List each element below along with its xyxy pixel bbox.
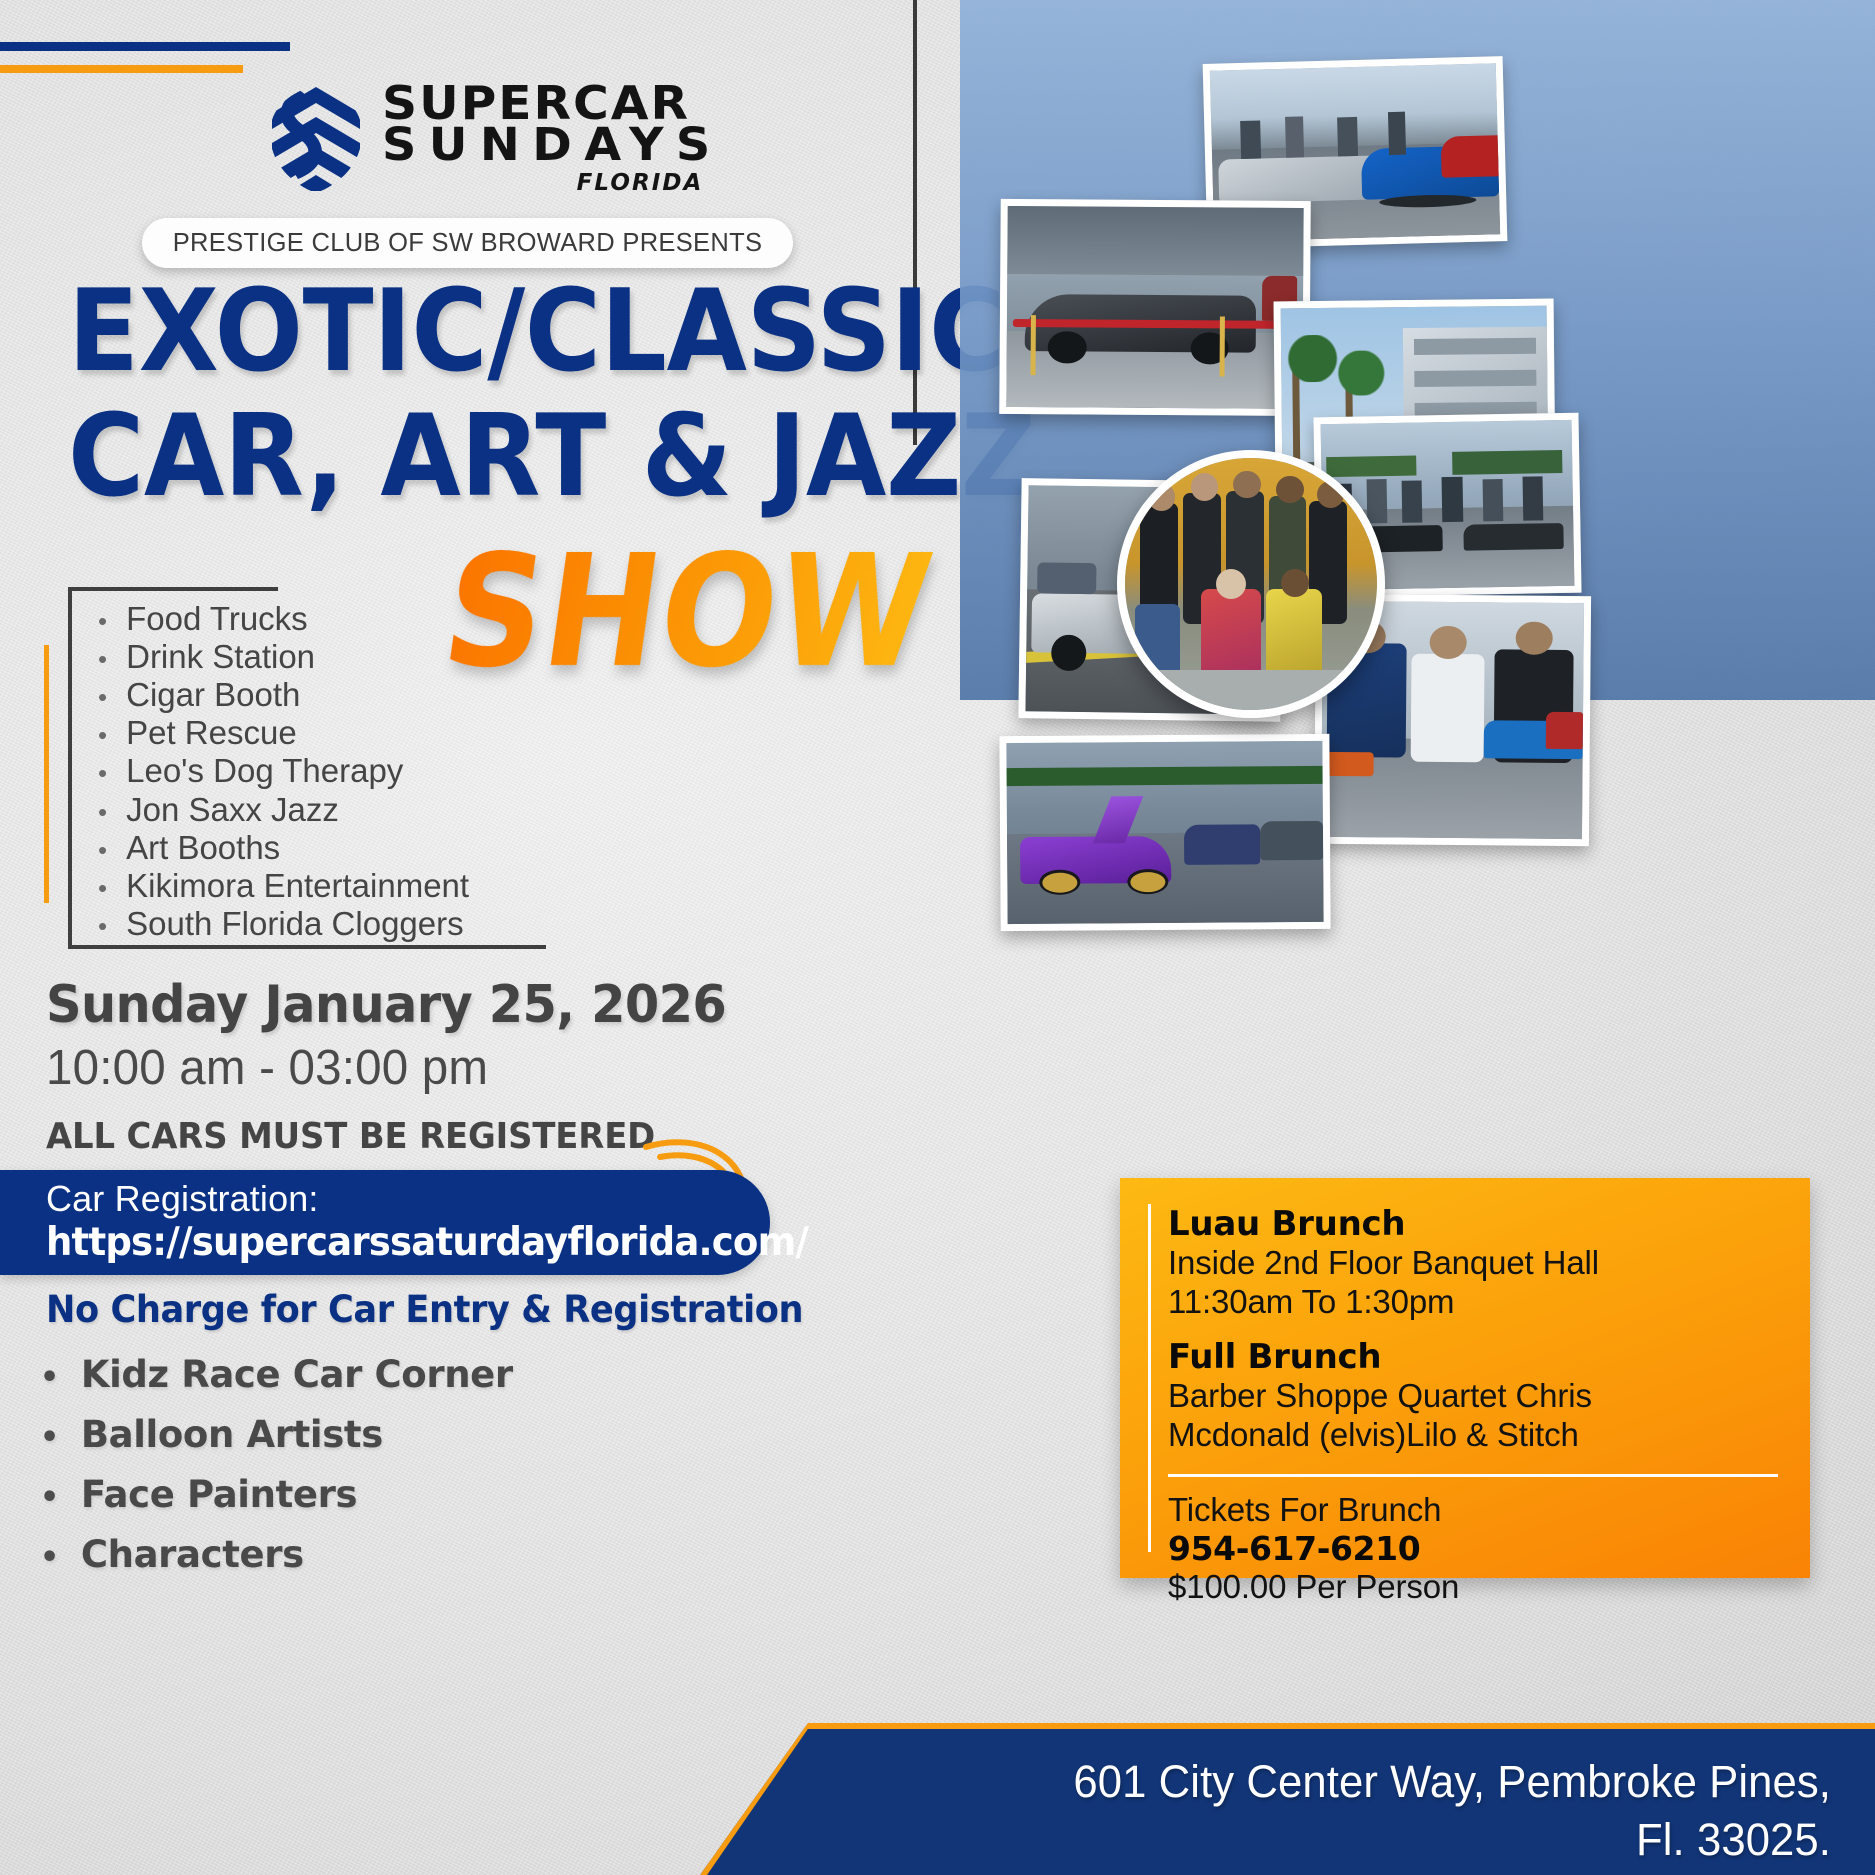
orange-accent-bar bbox=[44, 645, 49, 903]
list-item: •Balloon Artists bbox=[40, 1405, 740, 1465]
list-item: •Face Painters bbox=[40, 1465, 740, 1525]
tickets-price: $100.00 Per Person bbox=[1168, 1568, 1780, 1607]
address-footer: 601 City Center Way, Pembroke Pines, Fl.… bbox=[700, 1723, 1875, 1875]
list-item: •Food Trucks bbox=[98, 600, 658, 638]
group-portrait-circle-photo bbox=[1117, 450, 1385, 718]
event-time: 10:00 am - 03:00 pm bbox=[46, 1040, 488, 1096]
feature-label: Jon Saxx Jazz bbox=[126, 791, 339, 829]
bullet-dot-icon: • bbox=[40, 1543, 59, 1573]
purple-aventador-photo bbox=[999, 734, 1330, 931]
tickets-label: Tickets For Brunch bbox=[1168, 1491, 1780, 1530]
feature-label: Food Trucks bbox=[126, 600, 308, 638]
kids-activities-list: •Kidz Race Car Corner •Balloon Artists •… bbox=[40, 1345, 740, 1585]
event-date: Sunday January 25, 2026 bbox=[46, 975, 726, 1035]
bullet-dot-icon: • bbox=[98, 837, 107, 863]
list-item: •Kidz Race Car Corner bbox=[40, 1345, 740, 1405]
no-charge-notice: No Charge for Car Entry & Registration bbox=[46, 1288, 803, 1331]
feature-label: Drink Station bbox=[126, 638, 315, 676]
left-column: SUPERCAR SUNDAYS FLORIDA PRESTIGE CLUB O… bbox=[0, 0, 915, 1875]
kids-activity-label: Balloon Artists bbox=[81, 1405, 383, 1465]
full-brunch-title: Full Brunch bbox=[1168, 1337, 1780, 1377]
batmobile-photo bbox=[999, 199, 1310, 416]
brunch-info-box: Luau Brunch Inside 2nd Floor Banquet Hal… bbox=[1120, 1178, 1810, 1578]
bullet-dot-icon: • bbox=[98, 646, 107, 672]
list-item: •Jon Saxx Jazz bbox=[98, 791, 658, 829]
luau-brunch-line-1: Inside 2nd Floor Banquet Hall bbox=[1168, 1244, 1780, 1283]
list-item: •Kikimora Entertainment bbox=[98, 867, 658, 905]
list-item: •Art Booths bbox=[98, 829, 658, 867]
feature-label: South Florida Cloggers bbox=[126, 905, 464, 943]
bullet-dot-icon: • bbox=[98, 913, 107, 939]
kids-activity-label: Characters bbox=[81, 1525, 304, 1585]
bullet-dot-icon: • bbox=[98, 760, 107, 786]
kids-activity-label: Face Painters bbox=[81, 1465, 357, 1525]
brunch-divider bbox=[1168, 1474, 1778, 1477]
bracket-left bbox=[68, 587, 72, 949]
address-line-2: Fl. 33025. bbox=[958, 1811, 1831, 1869]
list-item: •South Florida Cloggers bbox=[98, 905, 658, 943]
bullet-dot-icon: • bbox=[40, 1363, 59, 1393]
bullet-dot-icon: • bbox=[98, 799, 107, 825]
shield-chevron-logo-icon bbox=[264, 83, 368, 195]
presenter-pill: PRESTIGE CLUB OF SW BROWARD PRESENTS bbox=[142, 218, 793, 268]
presenter-text: PRESTIGE CLUB OF SW BROWARD PRESENTS bbox=[173, 229, 763, 258]
bullet-dot-icon: • bbox=[40, 1423, 59, 1453]
list-item: •Pet Rescue bbox=[98, 714, 658, 752]
bracket-top bbox=[68, 587, 278, 591]
list-item: •Leo's Dog Therapy bbox=[98, 752, 658, 790]
list-item: •Cigar Booth bbox=[98, 676, 658, 714]
full-brunch-line-1: Barber Shoppe Quartet Chris bbox=[1168, 1377, 1780, 1416]
logo-line-2: SUNDAYS bbox=[382, 124, 723, 165]
registration-url-link[interactable]: https://supercarssaturdayflorida.com/ bbox=[46, 1220, 808, 1265]
headline-line-2: CAR, ART & JAZZ bbox=[68, 408, 832, 505]
flyer-canvas: SUPERCAR SUNDAYS FLORIDA PRESTIGE CLUB O… bbox=[0, 0, 1875, 1875]
tickets-phone[interactable]: 954-617-6210 bbox=[1168, 1529, 1780, 1568]
bullet-dot-icon: • bbox=[98, 875, 107, 901]
list-item: •Characters bbox=[40, 1525, 740, 1585]
logo-line-3: FLORIDA bbox=[577, 170, 704, 196]
registration-label: Car Registration: bbox=[46, 1178, 319, 1220]
bullet-dot-icon: • bbox=[98, 684, 107, 710]
feature-label: Leo's Dog Therapy bbox=[126, 752, 403, 790]
bullet-dot-icon: • bbox=[98, 722, 107, 748]
bracket-bottom bbox=[68, 945, 546, 949]
bullet-dot-icon: • bbox=[98, 608, 107, 634]
brunch-left-accent-line bbox=[1148, 1204, 1151, 1552]
list-item: •Drink Station bbox=[98, 638, 658, 676]
kids-activity-label: Kidz Race Car Corner bbox=[81, 1345, 513, 1405]
address-line-1: 601 City Center Way, Pembroke Pines, bbox=[958, 1753, 1831, 1811]
photo-collage bbox=[960, 0, 1875, 960]
feature-label: Pet Rescue bbox=[126, 714, 297, 752]
feature-label: Art Booths bbox=[126, 829, 280, 867]
venue-address: 601 City Center Way, Pembroke Pines, Fl.… bbox=[958, 1753, 1831, 1868]
brand-logo: SUPERCAR SUNDAYS FLORIDA bbox=[264, 82, 703, 196]
feature-label: Cigar Booth bbox=[126, 676, 300, 714]
full-brunch-line-2: Mcdonald (elvis)Lilo & Stitch bbox=[1168, 1416, 1780, 1455]
bullet-dot-icon: • bbox=[40, 1483, 59, 1513]
luau-brunch-line-2: 11:30am To 1:30pm bbox=[1168, 1283, 1780, 1322]
feature-label: Kikimora Entertainment bbox=[126, 867, 469, 905]
headline-line-1: EXOTIC/CLASSIC bbox=[68, 283, 832, 380]
must-register-notice: ALL CARS MUST BE REGISTERED bbox=[46, 1116, 655, 1157]
headline-block: EXOTIC/CLASSIC CAR, ART & JAZZ bbox=[68, 283, 898, 505]
luau-brunch-title: Luau Brunch bbox=[1168, 1204, 1780, 1244]
features-list: •Food Trucks •Drink Station •Cigar Booth… bbox=[98, 600, 658, 943]
